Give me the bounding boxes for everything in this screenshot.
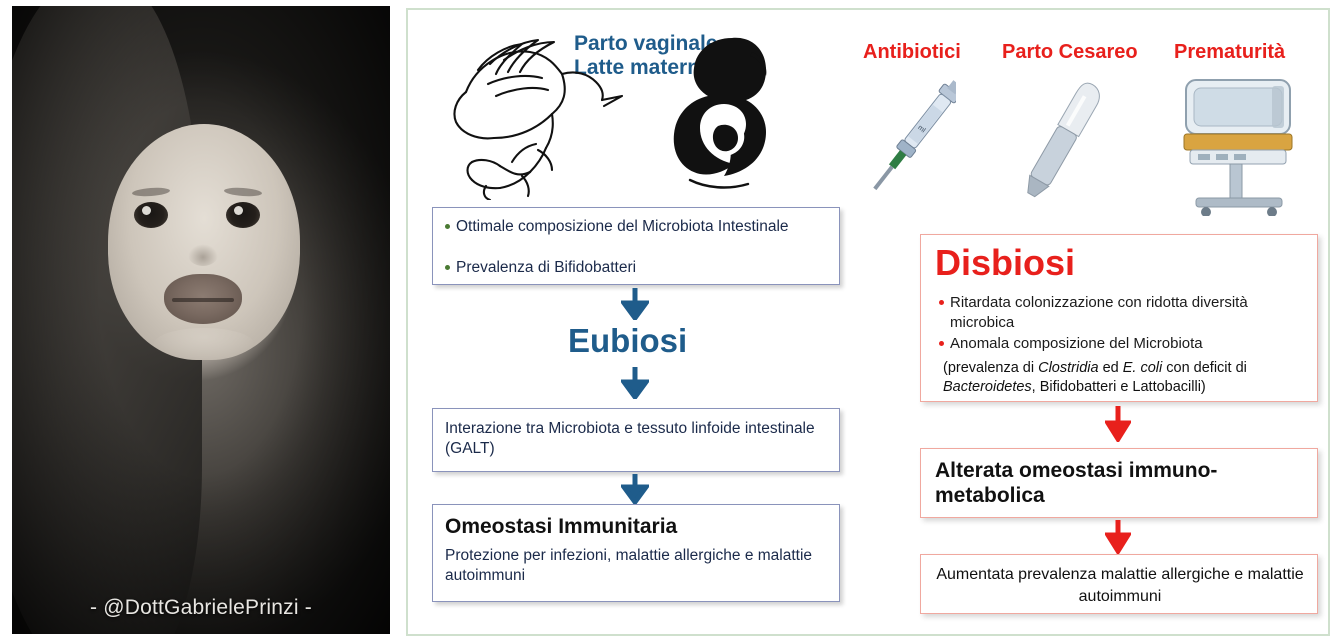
header-prematurity: Prematurità bbox=[1174, 41, 1285, 63]
box-disbiosi: Disbiosi Ritardata colonizzazione con ri… bbox=[920, 234, 1318, 402]
altered-homeostasis-text: Alterata omeostasi immuno-metabolica bbox=[935, 458, 1303, 508]
photo-vignette bbox=[12, 6, 390, 634]
arrow-down-blue-1 bbox=[621, 288, 649, 320]
arrow-down-blue-2 bbox=[621, 367, 649, 399]
note-part-1: (prevalenza di bbox=[943, 360, 1038, 376]
arrow-down-blue-3 bbox=[621, 474, 649, 504]
note-bacteroidetes: Bacteroidetes bbox=[943, 379, 1032, 395]
stork-icon bbox=[426, 30, 626, 200]
immune-homeostasis-text: Protezione per infezioni, malattie aller… bbox=[445, 546, 831, 586]
breastfeeding-mother-icon bbox=[666, 30, 796, 198]
header-antibiotics: Antibiotici bbox=[863, 41, 961, 63]
box-altered-homeostasis: Alterata omeostasi immuno-metabolica bbox=[920, 448, 1318, 518]
note-part-3: con deficit di bbox=[1162, 360, 1247, 376]
baby-portrait: - @DottGabrielePrinzi - bbox=[12, 6, 390, 634]
scalpel-icon bbox=[1004, 72, 1124, 212]
note-part-2: ed bbox=[1099, 360, 1123, 376]
increased-allergic-text: Aumentata prevalenza malattie allergiche… bbox=[935, 564, 1305, 607]
box-immune-homeostasis: Omeostasi Immunitaria Protezione per inf… bbox=[432, 504, 840, 602]
label-eubiosi: Eubiosi bbox=[568, 322, 687, 360]
arrow-down-red-2 bbox=[1105, 520, 1131, 554]
note-clostridia: Clostridia bbox=[1038, 360, 1098, 376]
box-optimal-microbiota: Ottimale composizione del Microbiota Int… bbox=[432, 207, 840, 285]
diagram-panel: Parto vaginale Latte materno Antibiotici… bbox=[406, 8, 1330, 636]
header-cesarean: Parto Cesareo bbox=[1002, 41, 1138, 63]
arrow-down-red-1 bbox=[1105, 406, 1131, 442]
bullet-optimal-composition: Ottimale composizione del Microbiota Int… bbox=[443, 217, 828, 237]
immune-homeostasis-title: Omeostasi Immunitaria bbox=[445, 514, 677, 539]
galt-text: Interazione tra Microbiota e tessuto lin… bbox=[445, 419, 827, 459]
label-disbiosi: Disbiosi bbox=[935, 245, 1075, 281]
disbiosi-note: (prevalenza di Clostridia ed E. coli con… bbox=[943, 359, 1303, 397]
note-ecoli: E. coli bbox=[1123, 360, 1163, 376]
bullet-anomalous-composition: Anomala composizione del Microbiota bbox=[937, 334, 1300, 354]
note-part-4: , Bifidobatteri e Lattobacilli) bbox=[1032, 379, 1206, 395]
bullet-delayed-colonization: Ritardata colonizzazione con ridotta div… bbox=[937, 293, 1300, 332]
diagram-page: - @DottGabrielePrinzi - Parto vaginale L… bbox=[0, 0, 1338, 640]
photo-watermark: - @DottGabrielePrinzi - bbox=[12, 596, 390, 620]
box-galt-interaction: Interazione tra Microbiota e tessuto lin… bbox=[432, 408, 840, 472]
incubator-icon bbox=[1168, 66, 1308, 216]
syringe-icon: ml bbox=[870, 70, 956, 210]
bullet-bifidobacteria: Prevalenza di Bifidobatteri bbox=[443, 258, 828, 278]
box-increased-allergic-diseases: Aumentata prevalenza malattie allergiche… bbox=[920, 554, 1318, 614]
